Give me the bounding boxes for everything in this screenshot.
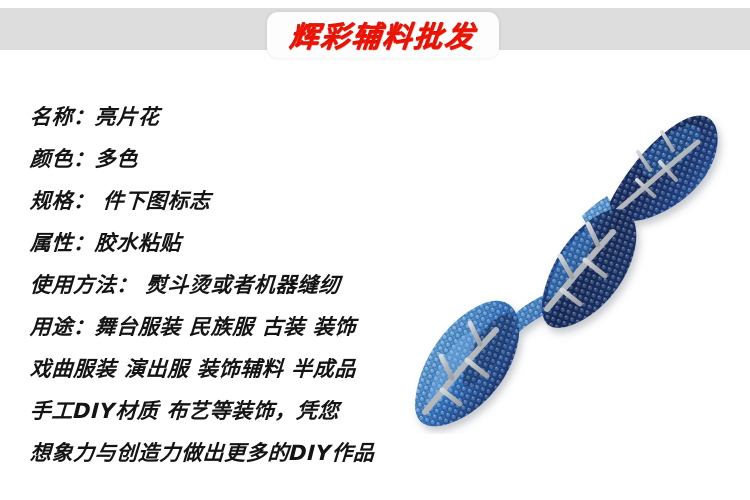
leaf-top [610, 116, 718, 221]
product-image [392, 104, 742, 434]
brand-title-plate: 辉彩辅料批发 [267, 12, 499, 58]
spec-line-use-4: 想象力与创造力做出更多的DIY作品 [29, 432, 501, 474]
product-detail-image: 辉彩辅料批发 名称：亮片花 颜色：多色 规格： 件下图标志 属性：胶水粘贴 使用… [0, 0, 750, 500]
sequin-leaf-applique-graphic [392, 104, 742, 434]
brand-title: 辉彩辅料批发 [288, 14, 478, 56]
leaf-bottom [415, 301, 519, 426]
leaf-middle [542, 209, 636, 328]
